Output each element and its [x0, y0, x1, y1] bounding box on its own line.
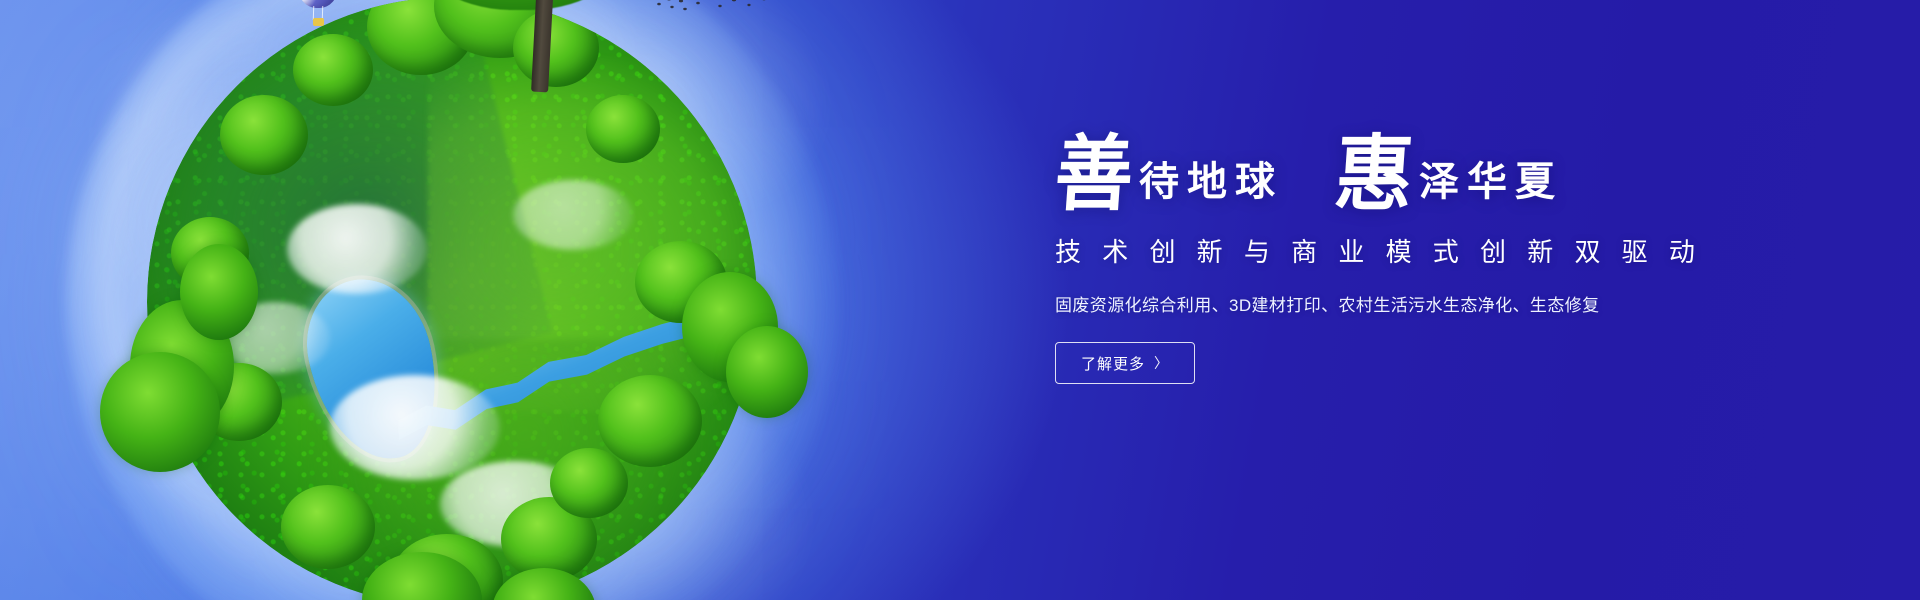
learn-more-label: 了解更多 [1081, 353, 1145, 374]
cloud-puff [330, 375, 500, 480]
rim-tree [100, 352, 220, 472]
hero-tree-canopy [406, 0, 636, 10]
banner-headline: 善 待地球 惠 泽华夏 [1055, 140, 1815, 210]
tree-canopy [293, 34, 373, 106]
headline-char-shan: 善 [1052, 138, 1135, 212]
banner-subtitle: 技 术 创 新 与 商 业 模 式 创 新 双 驱 动 [1055, 232, 1815, 269]
banner-description: 固废资源化综合利用、3D建材打印、农村生活污水生态净化、生态修复 [1055, 291, 1815, 316]
cta-row: 了解更多 〉 [1055, 342, 1815, 384]
learn-more-button[interactable]: 了解更多 〉 [1055, 342, 1195, 384]
balloon-basket [313, 18, 324, 26]
headline-char-hui: 惠 [1332, 138, 1415, 212]
chevron-right-icon: 〉 [1154, 353, 1169, 373]
hot-air-balloon-icon [298, 0, 338, 32]
tree-canopy [586, 95, 660, 163]
rim-tree [180, 244, 258, 340]
tree-canopy [220, 95, 308, 175]
hero-tree-trunk [531, 0, 554, 92]
cloud-puff [287, 204, 427, 294]
rim-tree [726, 326, 808, 418]
hero-banner: 善 待地球 惠 泽华夏 技 术 创 新 与 商 业 模 式 创 新 双 驱 动 … [0, 0, 1920, 600]
headline-daidiqiu: 待地球 [1139, 162, 1283, 210]
tree-canopy [281, 485, 375, 569]
tree-canopy [598, 375, 702, 467]
cloud-puff [513, 180, 633, 250]
banner-content: 善 待地球 惠 泽华夏 技 术 创 新 与 商 业 模 式 创 新 双 驱 动 … [1055, 140, 1815, 384]
headline-zehuaxia: 泽华夏 [1419, 162, 1563, 210]
bird-flock-icon [650, 0, 784, 16]
hero-tree [406, 0, 636, 90]
tree-canopy [550, 448, 628, 518]
earth-artwork [62, 0, 842, 600]
